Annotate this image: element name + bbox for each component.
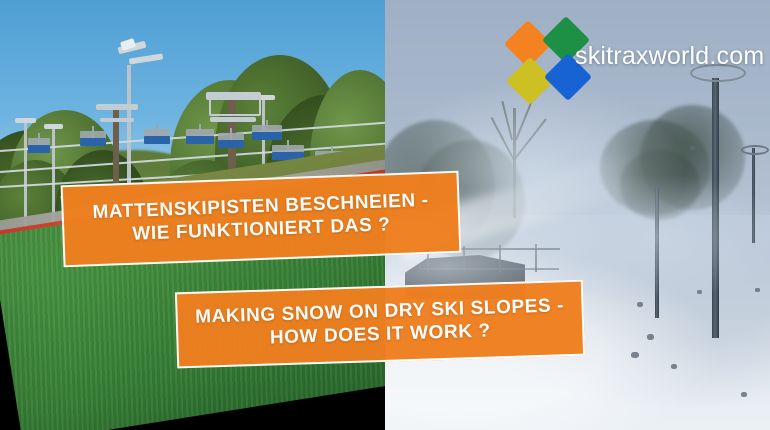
yellow-diamond-icon [506,57,554,105]
site-logo[interactable]: skitraxworld.com [503,18,765,102]
lift-chair [218,128,244,150]
snow-debris [671,364,677,369]
lift-pylon-head-center [96,104,138,110]
floodlight-head-left2 [44,124,63,129]
lift-chair [28,133,50,153]
lift-chair [186,124,214,146]
lift-pylon-frame-right [209,96,261,116]
slope-railing-lower [419,268,559,270]
logo-wordmark: skitraxworld.com [575,42,764,71]
lift-chair [80,126,106,148]
lift-pylon-crossarm-center [100,118,134,122]
tall-pole-secondary [655,188,659,318]
title-banner-english: MAKING SNOW ON DRY SKI SLOPES - HOW DOES… [175,280,585,369]
tall-pole-distant [752,148,755,243]
title-banner-german: MATTENSKIPISTEN BESCHNEIEN - WIE FUNKTIO… [61,171,462,268]
snow-debris [690,146,695,150]
lift-pylon-crossarm-right [210,117,256,122]
promo-image: skitraxworld.com MATTENSKIPISTEN BESCHNE… [0,0,770,430]
snow-debris [755,288,760,292]
snow-debris [697,290,702,294]
tall-pole-main [712,78,719,338]
railing-post [463,246,465,272]
lift-chair [144,124,170,146]
snow-debris [637,302,643,307]
snow-debris [741,392,747,397]
railing-post [535,244,537,272]
floodlight-head-left [15,118,36,123]
snow-debris [631,352,639,358]
snow-debris [647,334,654,340]
railing-post [499,245,501,272]
distant-lift-head [741,145,769,155]
